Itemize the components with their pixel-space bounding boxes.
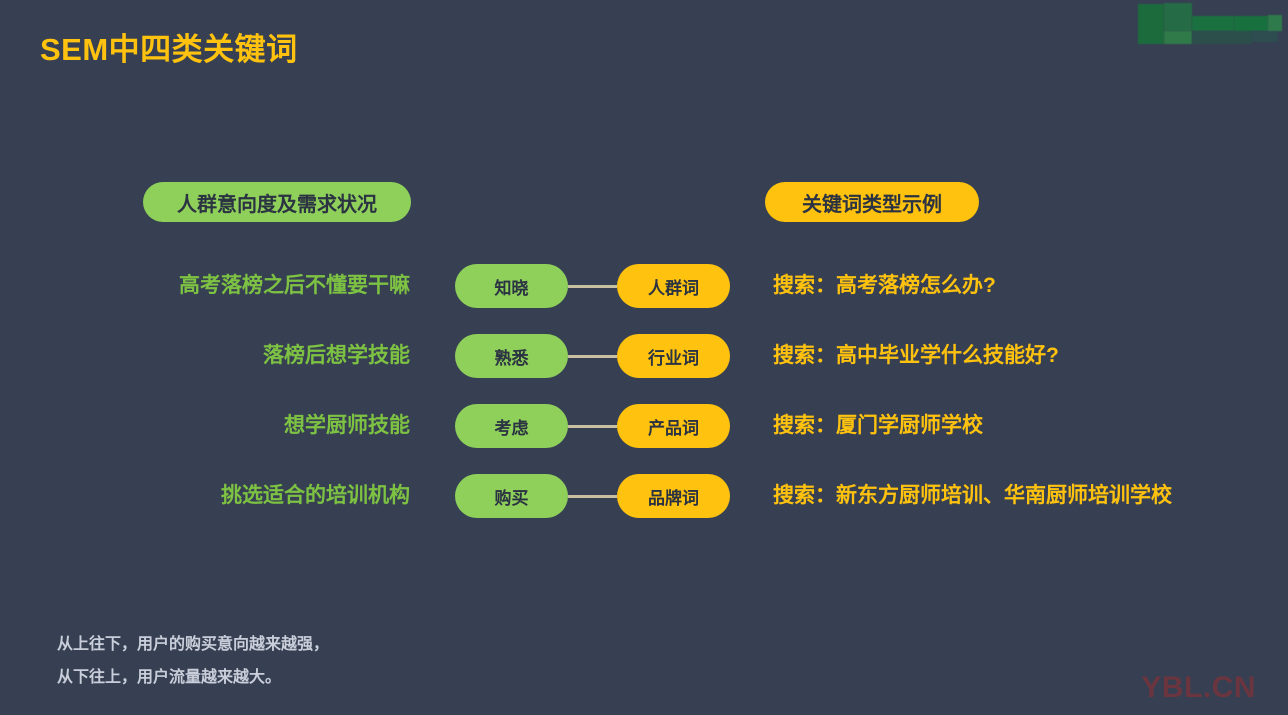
keyword-type-pill: 人群词 (617, 264, 730, 308)
table-row: 落榜后想学技能 熟悉 行业词 搜索：高中毕业学什么技能好? (0, 334, 1288, 378)
page-title: SEM中四类关键词 (40, 24, 298, 69)
caption-line-2: 从下往上，用户流量越来越大。 (57, 661, 329, 694)
censor-tile (1164, 3, 1192, 31)
keyword-type-pill: 行业词 (617, 334, 730, 378)
censor-tile (1192, 16, 1234, 31)
keyword-type-pill: 品牌词 (617, 474, 730, 518)
connector-line (568, 425, 617, 428)
censor-tile (1234, 16, 1268, 31)
stage-pill: 购买 (455, 474, 568, 518)
censor-tile (1268, 15, 1282, 31)
column-header-keyword-type: 关键词类型示例 (765, 182, 979, 222)
censor-tile (1138, 4, 1164, 44)
example-query: 搜索：厦门学厨师学校 (773, 404, 983, 448)
example-query: 搜索：高考落榜怎么办? (773, 264, 996, 308)
column-header-intent: 人群意向度及需求状况 (143, 182, 411, 222)
table-row: 高考落榜之后不懂要干嘛 知晓 人群词 搜索：高考落榜怎么办? (0, 264, 1288, 308)
censor-tile (1164, 31, 1192, 44)
censored-logo-watermark (1130, 2, 1282, 44)
example-query: 搜索：新东方厨师培训、华南厨师培训学校 (773, 474, 1172, 518)
footer-caption: 从上往下，用户的购买意向越来越强， 从下往上，用户流量越来越大。 (57, 628, 329, 694)
table-row: 挑选适合的培训机构 购买 品牌词 搜索：新东方厨师培训、华南厨师培训学校 (0, 474, 1288, 518)
censor-tile (1192, 31, 1252, 44)
connector-line (568, 285, 617, 288)
stage-pill: 熟悉 (455, 334, 568, 378)
slide-canvas: SEM中四类关键词 人群意向度及需求状况 关键词类型示例 高考落榜之后不懂要干嘛… (0, 0, 1288, 715)
intent-label: 高考落榜之后不懂要干嘛 (60, 264, 410, 308)
caption-line-1: 从上往下，用户的购买意向越来越强， (57, 628, 329, 661)
connector-line (568, 355, 617, 358)
intent-label: 落榜后想学技能 (60, 334, 410, 378)
censor-tile (1252, 31, 1278, 42)
table-row: 想学厨师技能 考虑 产品词 搜索：厦门学厨师学校 (0, 404, 1288, 448)
connector-line (568, 495, 617, 498)
site-watermark: YBL.CN (1141, 671, 1256, 705)
intent-label: 想学厨师技能 (60, 404, 410, 448)
example-query: 搜索：高中毕业学什么技能好? (773, 334, 1059, 378)
intent-label: 挑选适合的培训机构 (60, 474, 410, 518)
keyword-type-pill: 产品词 (617, 404, 730, 448)
stage-pill: 考虑 (455, 404, 568, 448)
stage-pill: 知晓 (455, 264, 568, 308)
